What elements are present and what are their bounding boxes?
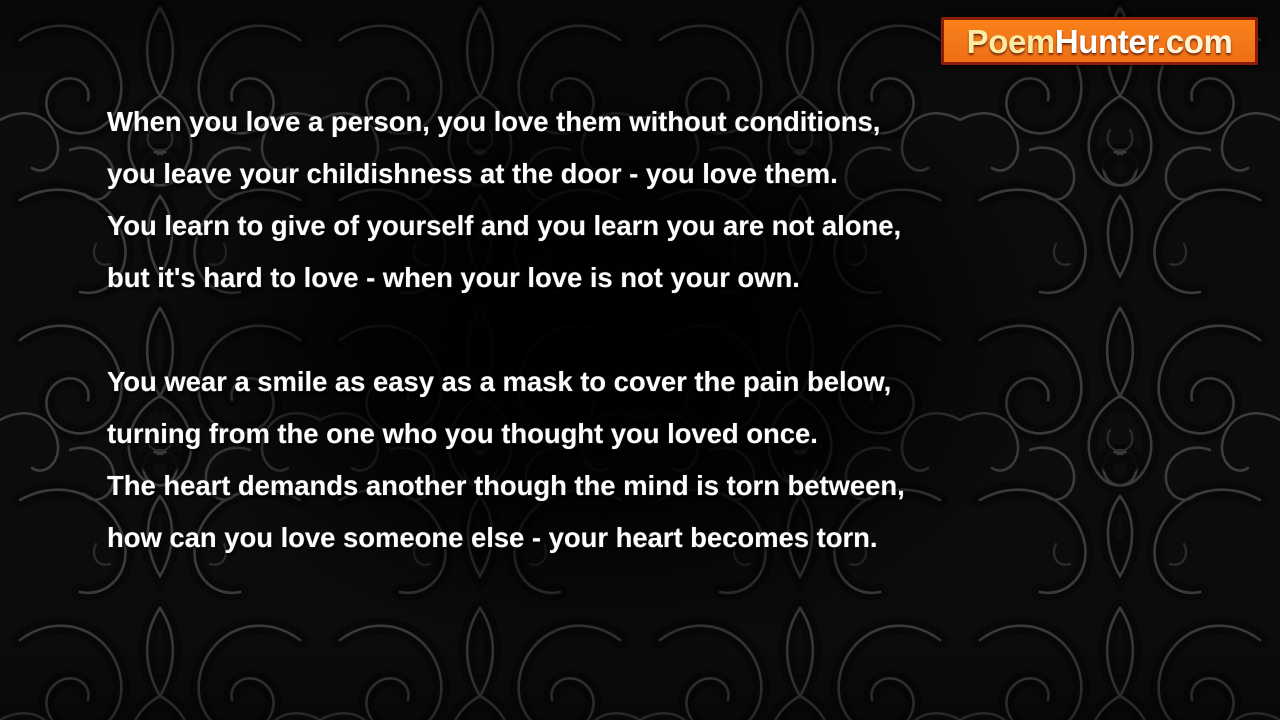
logo-word-poem: Poem [967, 23, 1055, 60]
logo-dot: . [1157, 23, 1166, 60]
poemhunter-logo-text: PoemHunter.com [967, 25, 1233, 58]
poem-stanza: When you love a person, you love them wi… [107, 96, 1187, 304]
poem-line: When you love a person, you love them wi… [107, 96, 1187, 148]
poem-line: how can you love someone else - your hea… [107, 512, 1187, 564]
poem-line: The heart demands another though the min… [107, 460, 1187, 512]
poem-stanza: You wear a smile as easy as a mask to co… [107, 356, 1187, 564]
poemhunter-logo-badge[interactable]: PoemHunter.com [941, 17, 1258, 65]
poem-card: PoemHunter.com When you love a person, y… [0, 0, 1280, 720]
poem-line: turning from the one who you thought you… [107, 408, 1187, 460]
poem-line: but it's hard to love - when your love i… [107, 252, 1187, 304]
poem-body: When you love a person, you love them wi… [107, 96, 1187, 564]
poem-line: You learn to give of yourself and you le… [107, 200, 1187, 252]
poem-line: you leave your childishness at the door … [107, 148, 1187, 200]
logo-word-com: com [1166, 23, 1233, 60]
poem-line: You wear a smile as easy as a mask to co… [107, 356, 1187, 408]
logo-word-hunter: Hunter [1055, 23, 1157, 60]
